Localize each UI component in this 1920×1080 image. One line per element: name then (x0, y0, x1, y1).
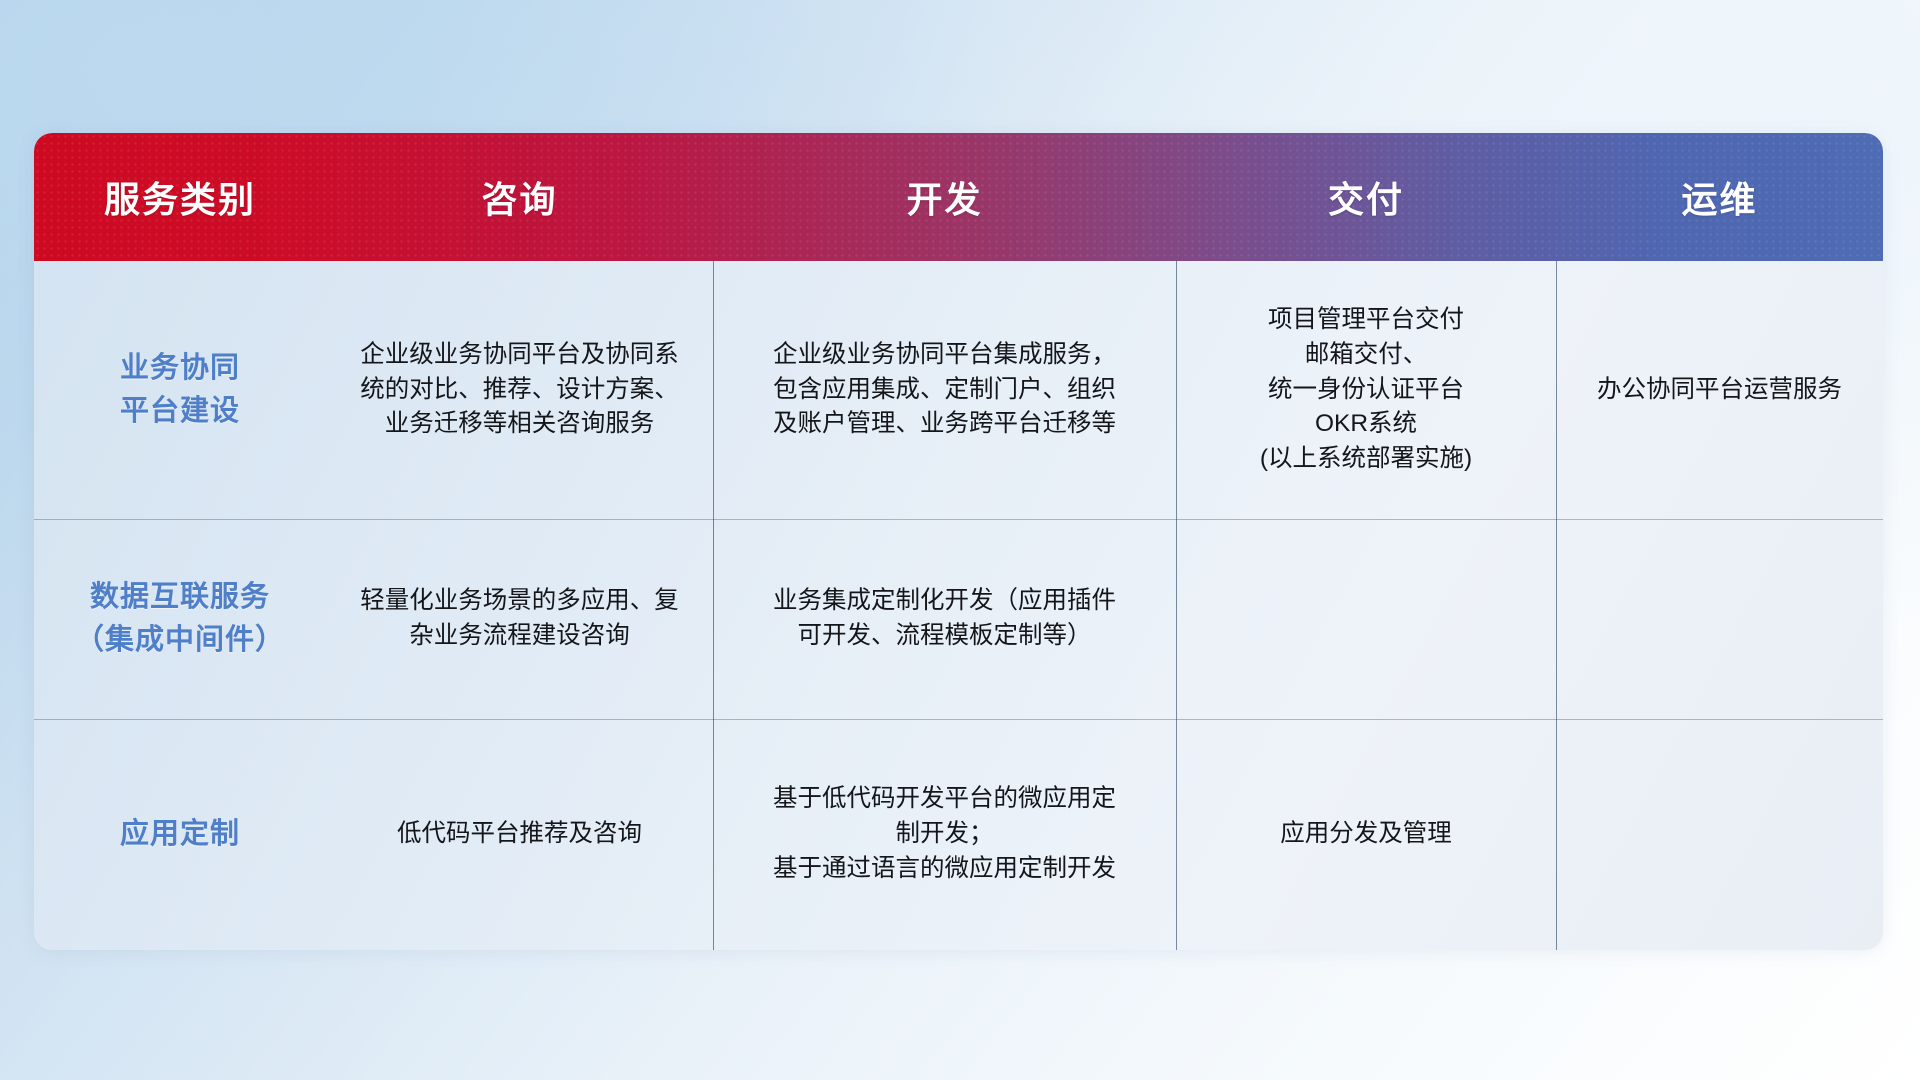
table-row: 业务协同 平台建设 企业级业务协同平台及协同系 统的对比、推荐、设计方案、 业务… (34, 261, 1883, 519)
row-category-cell: 应用定制 (34, 719, 326, 950)
cell-delivery (1176, 519, 1556, 719)
cell-operations (1556, 519, 1883, 719)
cell-development: 企业级业务协同平台集成服务， 包含应用集成、定制门户、组织 及账户管理、业务跨平… (713, 261, 1176, 519)
cell-operations: 办公协同平台运营服务 (1556, 261, 1883, 519)
cell-consulting: 企业级业务协同平台及协同系 统的对比、推荐、设计方案、 业务迁移等相关咨询服务 (326, 261, 713, 519)
row-category-label: 应用定制 (120, 813, 240, 857)
row-category-label: 业务协同 平台建设 (120, 347, 240, 434)
header-consulting: 咨询 (326, 171, 713, 223)
table-header-row: 服务类别 咨询 开发 交付 运维 (34, 133, 1883, 261)
header-operations: 运维 (1556, 171, 1883, 223)
table-row: 数据互联服务 （集成中间件） 轻量化业务场景的多应用、复 杂业务流程建设咨询 业… (34, 519, 1883, 719)
cell-consulting: 低代码平台推荐及咨询 (326, 719, 713, 950)
table-body: 业务协同 平台建设 企业级业务协同平台及协同系 统的对比、推荐、设计方案、 业务… (34, 261, 1883, 950)
header-development: 开发 (713, 171, 1176, 223)
page-root: 服务类别 咨询 开发 交付 运维 业务协同 平台建设 企业级业务协同平台及协同系… (0, 0, 1920, 1080)
cell-development: 业务集成定制化开发（应用插件 可开发、流程模板定制等） (713, 519, 1176, 719)
row-category-cell: 业务协同 平台建设 (34, 261, 326, 519)
header-service-category: 服务类别 (34, 171, 326, 223)
table-row: 应用定制 低代码平台推荐及咨询 基于低代码开发平台的微应用定 制开发； 基于通过… (34, 719, 1883, 950)
cell-delivery: 应用分发及管理 (1176, 719, 1556, 950)
cell-development: 基于低代码开发平台的微应用定 制开发； 基于通过语言的微应用定制开发 (713, 719, 1176, 950)
cell-delivery: 项目管理平台交付 邮箱交付、 统一身份认证平台 OKR系统 (以上系统部署实施) (1176, 261, 1556, 519)
cell-consulting: 轻量化业务场景的多应用、复 杂业务流程建设咨询 (326, 519, 713, 719)
cell-operations (1556, 719, 1883, 950)
service-matrix-table: 服务类别 咨询 开发 交付 运维 业务协同 平台建设 企业级业务协同平台及协同系… (34, 133, 1883, 950)
header-delivery: 交付 (1176, 171, 1556, 223)
row-category-cell: 数据互联服务 （集成中间件） (34, 519, 326, 719)
row-category-label: 数据互联服务 （集成中间件） (75, 576, 285, 663)
